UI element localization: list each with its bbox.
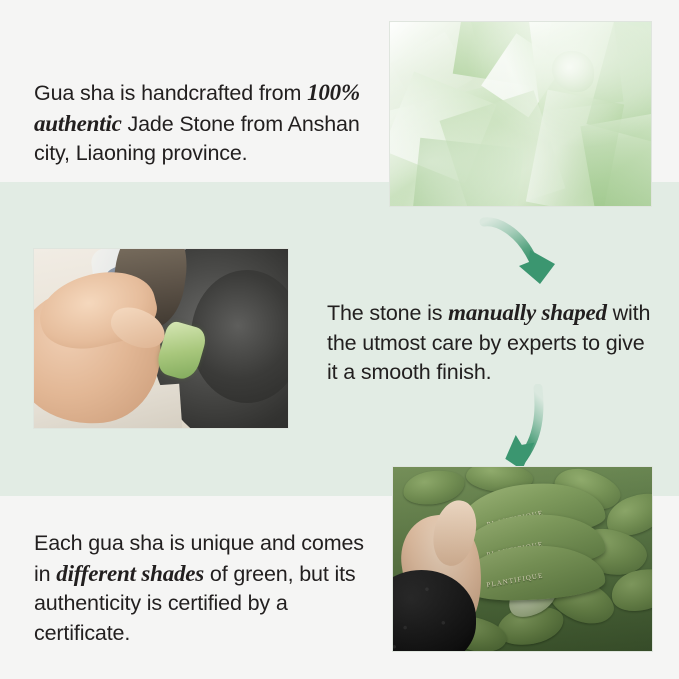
- step2-shaping-image: [33, 248, 289, 429]
- step3-finished-stones-image: PLANTIFIQUE PLANTIFIQUE PLANTIFIQUE: [392, 466, 653, 652]
- stones-shading-overlay: [393, 467, 652, 651]
- infographic-root: Gua sha is handcrafted from 100% authent…: [0, 0, 679, 679]
- step1-text-before: Gua sha is handcrafted from: [34, 81, 307, 105]
- step3-caption: Each gua sha is unique and comes in diff…: [34, 529, 384, 648]
- grinding-wheel-inner: [191, 270, 289, 402]
- step1-caption: Gua sha is handcrafted from 100% authent…: [34, 78, 374, 169]
- step2-text-before: The stone is: [327, 301, 448, 325]
- step1-jade-crystal-image: [389, 21, 652, 207]
- jade-sheen-overlay: [390, 22, 651, 206]
- flow-arrow-step2-to-step3: [466, 384, 578, 476]
- step3-emphasis: different shades: [56, 561, 204, 586]
- arrow-down-right-icon: [472, 214, 580, 296]
- step2-emphasis: manually shaped: [448, 300, 607, 325]
- flow-arrow-step1-to-step2: [472, 214, 580, 296]
- step2-caption: The stone is manually shaped with the ut…: [327, 298, 657, 388]
- arrow-down-left-icon: [466, 384, 578, 476]
